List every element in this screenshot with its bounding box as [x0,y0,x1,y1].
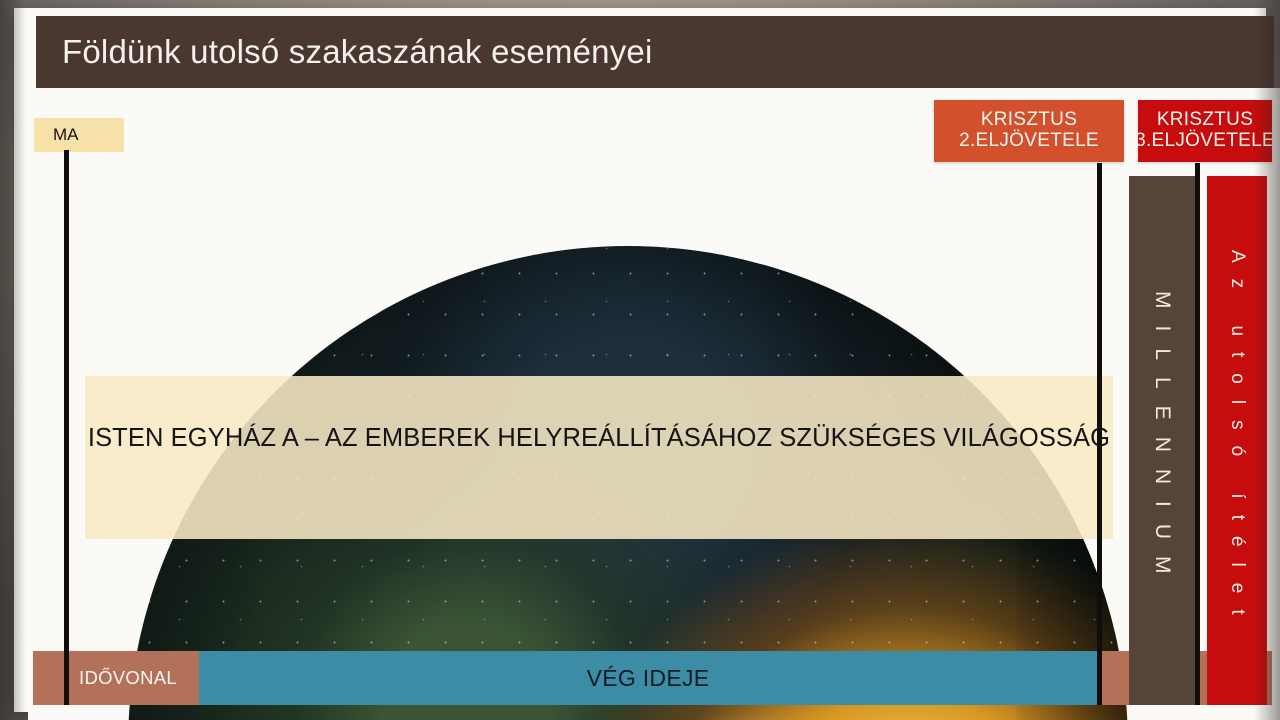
event-label-line1: KRISZTUS [981,110,1077,131]
timeline-rule-third-coming [1195,163,1200,705]
today-marker-label: MA [34,125,79,145]
title-bar: Földünk utolsó szakaszának eseményei [36,16,1274,88]
column-final-judgment-label: Az utolsó ítélet [1226,250,1248,631]
column-millennium: MILLENNIUM [1129,176,1195,705]
timeline-bar: IDŐVONAL VÉG IDEJE [33,651,1272,705]
column-millennium-label: MILLENNIUM [1150,291,1174,591]
timeline-middle-label: VÉG IDEJE [587,665,710,692]
event-label-line2: 3.ELJÖVETELE [1135,131,1275,152]
gospel-banner: ISTEN EGYHÁZ A – AZ EMBEREK HELYREÁLLÍTÁ… [85,376,1113,539]
event-label-line2: 2.ELJÖVETELE [959,131,1099,152]
gospel-banner-text: ISTEN EGYHÁZ A – AZ EMBEREK HELYREÁLLÍTÁ… [88,424,1110,453]
timeline-middle-segment: VÉG IDEJE [199,651,1097,705]
slide-sheet: Földünk utolsó szakaszának eseményei IST… [14,8,1266,712]
timeline-rule-second-coming [1097,163,1102,705]
timeline-left-label: IDŐVONAL [33,667,177,689]
today-marker-box: MA [34,118,124,152]
page-title: Földünk utolsó szakaszának eseményei [36,33,653,71]
slide-frame: Földünk utolsó szakaszának eseményei IST… [0,0,1280,720]
event-box-third-coming[interactable]: KRISZTUS 3.ELJÖVETELE [1138,100,1272,162]
timeline-rule-today [64,150,69,705]
event-label-line1: KRISZTUS [1157,110,1253,131]
column-final-judgment: Az utolsó ítélet [1207,176,1267,705]
event-box-second-coming[interactable]: KRISZTUS 2.ELJÖVETELE [934,100,1124,162]
slide-canvas: ISTEN EGYHÁZ A – AZ EMBEREK HELYREÁLLÍTÁ… [28,88,1280,720]
timeline-left-segment: IDŐVONAL [33,651,199,705]
